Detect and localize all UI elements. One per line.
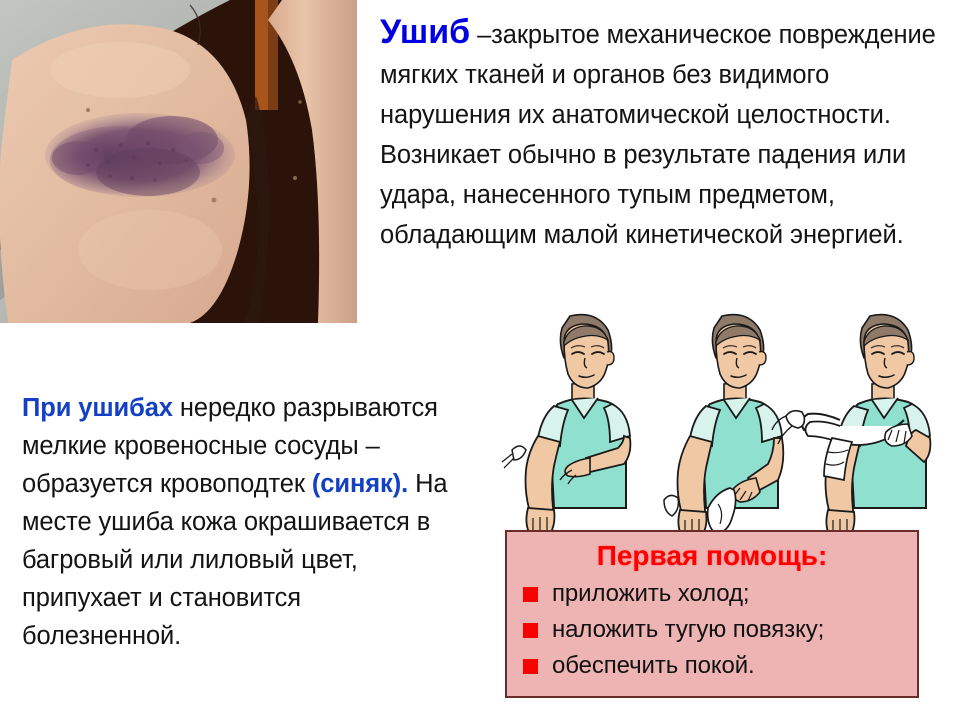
list-item: обеспечить покой. — [523, 648, 917, 684]
definition-body: –закрытое механическое повреждение мягки… — [380, 21, 936, 249]
square-bullet-icon — [523, 659, 538, 674]
slide-root: Ушиб –закрытое механическое повреждение … — [0, 0, 960, 720]
symptoms-bruise-word: (синяк). — [312, 470, 408, 498]
first-aid-title: Первая помощь: — [507, 540, 917, 572]
first-aid-item-label: приложить холод; — [552, 576, 749, 612]
list-item: приложить холод; — [523, 576, 917, 612]
first-aid-item-label: обеспечить покой. — [552, 648, 755, 684]
first-aid-item-label: наложить тугую повязку; — [552, 612, 824, 648]
definition-term: Ушиб — [380, 13, 470, 51]
symptoms-paragraph: При ушибах нередко разрываются мелкие кр… — [22, 389, 452, 655]
square-bullet-icon — [523, 623, 538, 638]
list-item: наложить тугую повязку; — [523, 612, 917, 648]
definition-paragraph: Ушиб –закрытое механическое повреждение … — [380, 12, 955, 255]
first-aid-illustration — [500, 312, 955, 544]
first-aid-list: приложить холод; наложить тугую повязку;… — [507, 576, 917, 684]
bruise-photo — [0, 0, 357, 323]
symptoms-lead: При ушибах — [22, 394, 173, 422]
first-aid-box: Первая помощь: приложить холод; наложить… — [505, 530, 919, 698]
square-bullet-icon — [523, 587, 538, 602]
